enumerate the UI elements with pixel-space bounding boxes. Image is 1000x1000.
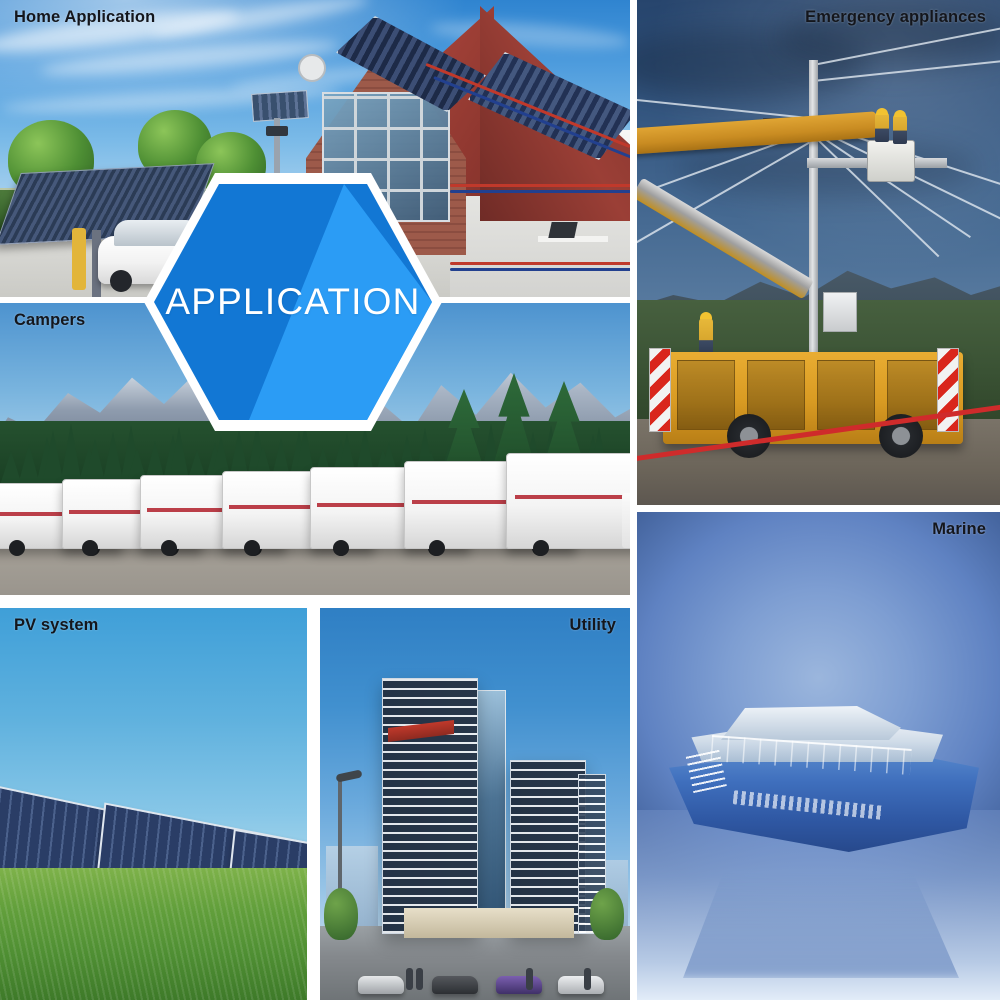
emergency-appliances-scene (637, 0, 1000, 505)
cold-water-pipe (450, 268, 630, 271)
car-wheel (110, 270, 132, 292)
boat-cabin (701, 706, 901, 740)
utility-pole (809, 60, 818, 360)
panel-emergency-appliances[interactable]: Emergency appliances (637, 0, 1000, 505)
application-badge[interactable]: APPLICATION (138, 167, 448, 437)
panel-label-campers: Campers (14, 311, 85, 330)
panel-label-home-application: Home Application (14, 8, 155, 27)
rv-cab (622, 493, 630, 548)
parked-car (432, 976, 478, 994)
marine-scene (637, 512, 1000, 1000)
safety-helmet (876, 108, 888, 115)
pedestrian (406, 968, 413, 990)
hot-water-pipe (450, 262, 630, 265)
pedestrian (584, 968, 591, 990)
equipment-cabinet (823, 292, 857, 332)
satellite-dish (298, 54, 326, 82)
lineman-worker (875, 112, 889, 142)
panel-label-emergency-appliances: Emergency appliances (805, 8, 986, 27)
aerial-work-bucket (867, 140, 915, 182)
parked-car (496, 976, 542, 994)
rv-stripe (515, 495, 630, 499)
building-podium (404, 908, 574, 938)
panel-pv-system[interactable]: PV system (0, 608, 307, 1000)
warning-stripe (937, 348, 959, 432)
truck-compartment (677, 360, 735, 430)
panel-marine[interactable]: Marine (637, 512, 1000, 1000)
lamp-head (266, 126, 288, 136)
lineman-worker (893, 114, 907, 144)
cold-water-pipe (450, 190, 630, 193)
grass-field (0, 868, 307, 1000)
pv-system-scene (0, 608, 307, 1000)
office-tower-primary (382, 678, 478, 934)
panel-label-marine: Marine (932, 520, 986, 539)
pedestrian (526, 968, 533, 990)
ev-charger (72, 228, 86, 290)
panel-utility[interactable]: Utility (320, 608, 630, 1000)
street-tree (590, 888, 624, 940)
laptop (548, 222, 577, 238)
parked-car (558, 976, 604, 994)
safety-helmet (700, 312, 712, 319)
hexagon-badge-icon (138, 167, 448, 437)
street-tree (324, 888, 358, 940)
safety-helmet (894, 110, 906, 117)
panel-label-utility: Utility (569, 616, 616, 635)
pedestrian (416, 968, 423, 990)
truck-wheel (727, 414, 771, 458)
truck-compartment (817, 360, 875, 430)
rv-motorhome (506, 453, 630, 549)
rv-tire (333, 540, 349, 556)
warning-stripe (649, 348, 671, 432)
rv-tire (429, 540, 445, 556)
panel-label-pv-system: PV system (14, 616, 98, 635)
utility-scene (320, 608, 630, 1000)
passenger-boat (659, 680, 989, 880)
hot-water-pipe (450, 184, 630, 187)
parked-car (358, 976, 404, 994)
rv-tire (244, 540, 260, 556)
application-collage: Home Application Campers (0, 0, 1000, 1000)
